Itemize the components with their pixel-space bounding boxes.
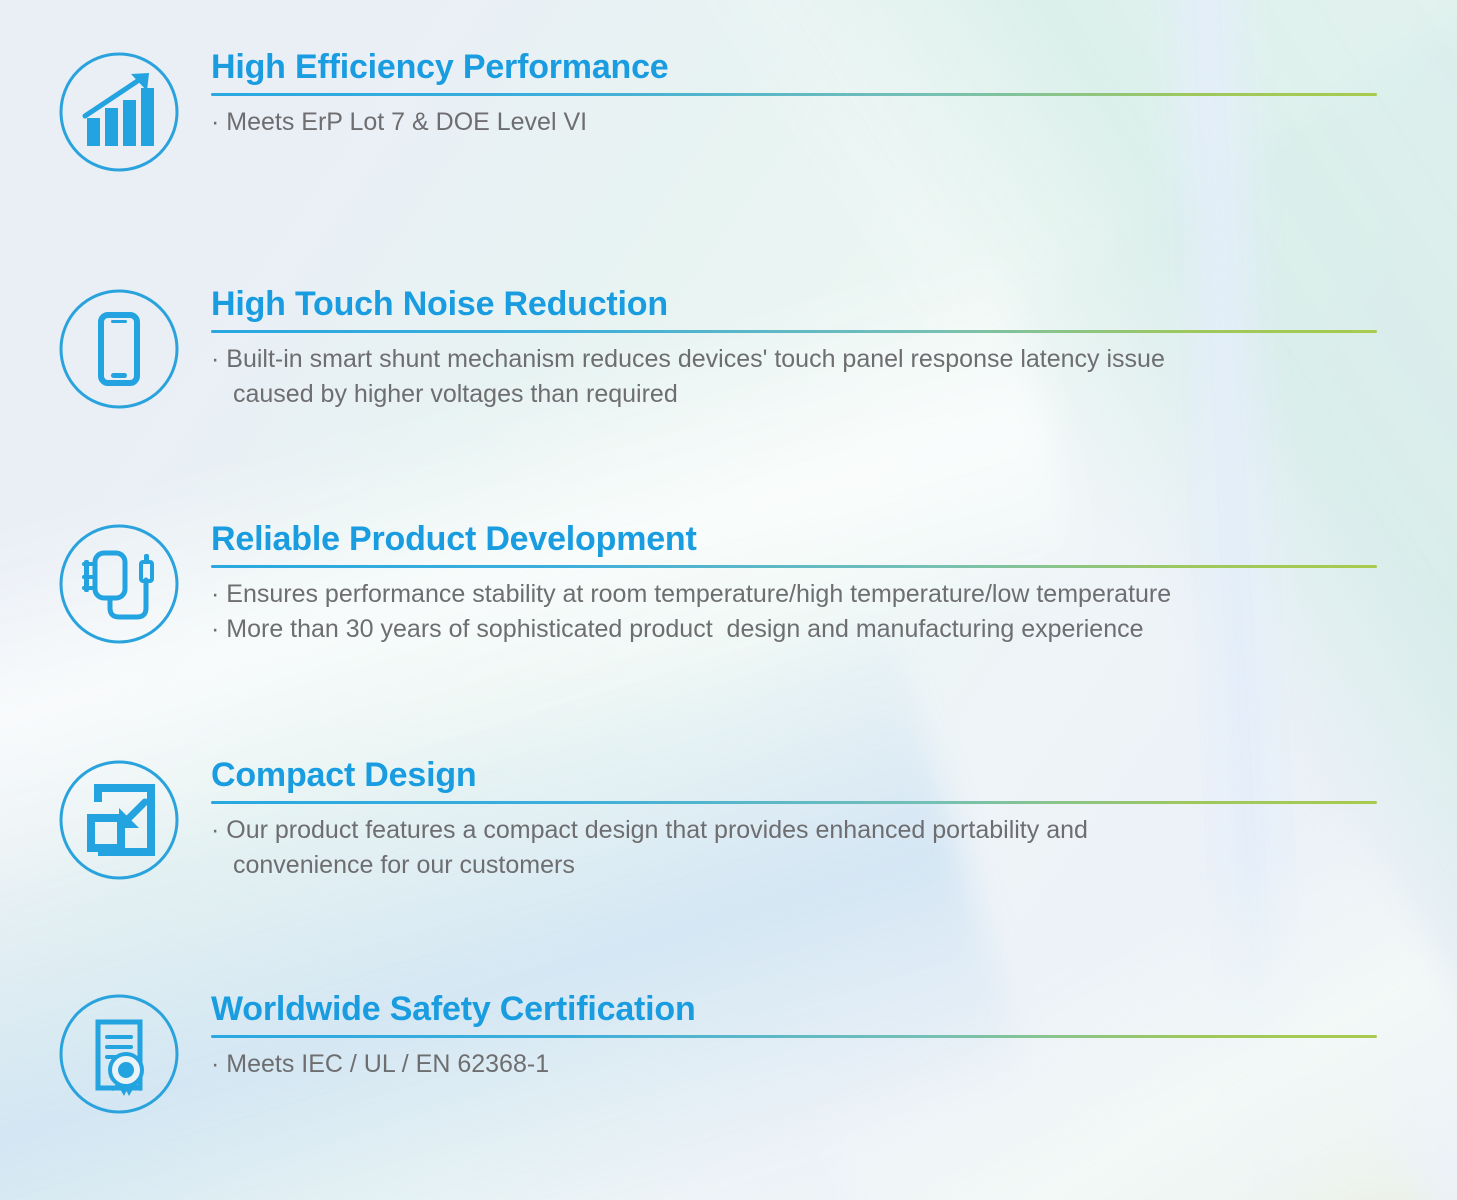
feature-title: Compact Design <box>211 758 1381 794</box>
compact-shrink-icon <box>57 758 181 882</box>
feature-body: Compact Design · Our product features a … <box>211 758 1381 884</box>
bar-chart-growth-icon <box>57 50 181 174</box>
feature-description: · Ensures performance stability at room … <box>211 577 1381 648</box>
description-line: caused by higher voltages than required <box>211 377 1381 413</box>
feature-body: High Efficiency Performance · Meets ErP … <box>211 50 1381 140</box>
features-container: High Efficiency Performance · Meets ErP … <box>0 0 1457 1200</box>
description-line: · Meets IEC / UL / EN 62368-1 <box>211 1047 1381 1083</box>
feature-divider <box>211 330 1377 333</box>
power-adapter-icon <box>57 522 181 646</box>
feature-title: Reliable Product Development <box>211 522 1381 558</box>
feature-title: High Efficiency Performance <box>211 50 1381 86</box>
feature-title: Worldwide Safety Certification <box>211 992 1381 1028</box>
description-line: convenience for our customers <box>211 848 1381 884</box>
feature-description: · Meets ErP Lot 7 & DOE Level VI <box>211 105 1381 141</box>
feature-list-page: High Efficiency Performance · Meets ErP … <box>0 0 1457 1200</box>
feature-body: Worldwide Safety Certification · Meets I… <box>211 992 1381 1082</box>
feature-description: · Our product features a compact design … <box>211 813 1381 884</box>
feature-body: High Touch Noise Reduction · Built-in sm… <box>211 287 1381 413</box>
description-line: · Our product features a compact design … <box>211 813 1381 849</box>
feature-description: · Built-in smart shunt mechanism reduces… <box>211 342 1381 413</box>
feature-description: · Meets IEC / UL / EN 62368-1 <box>211 1047 1381 1083</box>
feature-divider <box>211 93 1377 96</box>
feature-body: Reliable Product Development · Ensures p… <box>211 522 1381 648</box>
description-line: · Meets ErP Lot 7 & DOE Level VI <box>211 105 1381 141</box>
description-line: · Ensures performance stability at room … <box>211 577 1381 613</box>
feature-divider <box>211 1035 1377 1038</box>
certificate-award-icon <box>57 992 181 1116</box>
feature-divider <box>211 801 1377 804</box>
feature-divider <box>211 565 1377 568</box>
description-line: · Built-in smart shunt mechanism reduces… <box>211 342 1381 378</box>
description-line: · More than 30 years of sophisticated pr… <box>211 612 1381 648</box>
smartphone-icon <box>57 287 181 411</box>
feature-title: High Touch Noise Reduction <box>211 287 1381 323</box>
